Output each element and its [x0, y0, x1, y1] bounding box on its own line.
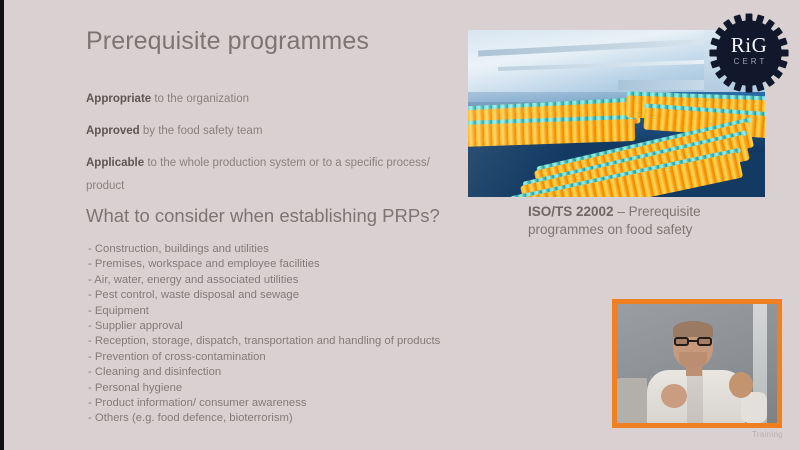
presenter-video-overlay[interactable]: [612, 299, 782, 428]
lead-bullet-keyword: Appropriate: [86, 93, 151, 105]
lead-bullet-item: Appropriate to the organization: [86, 88, 446, 111]
prp-consideration-list: - Construction, buildings and utilities …: [88, 242, 518, 427]
caption-standard-code: ISO/TS 22002: [528, 204, 614, 219]
list-item: - Air, water, energy and associated util…: [88, 273, 518, 288]
lead-bullet-text: by the food safety team: [140, 125, 263, 137]
left-edge-strip: [0, 0, 4, 450]
photo-caption: ISO/TS 22002 – Prerequisite programmes o…: [528, 203, 768, 239]
list-item: - Equipment: [88, 304, 518, 319]
gear-icon: [706, 10, 792, 96]
rig-cert-logo: RiG CERT: [706, 10, 792, 96]
lead-bullet-item: Applicable to the whole production syste…: [86, 152, 446, 198]
list-item: - Prevention of cross-contamination: [88, 350, 518, 365]
lead-bullet-list: Appropriate to the organization Approved…: [86, 88, 446, 198]
list-item: - Others (e.g. food defence, bioterroris…: [88, 411, 518, 426]
page-title: Prerequisite programmes: [86, 27, 369, 56]
watermark: Training: [752, 430, 783, 439]
list-item: - Construction, buildings and utilities: [88, 242, 518, 257]
list-item: - Reception, storage, dispatch, transpor…: [88, 334, 518, 349]
list-item: - Premises, workspace and employee facil…: [88, 257, 518, 272]
list-item: - Supplier approval: [88, 319, 518, 334]
lead-bullet-keyword: Applicable: [86, 157, 144, 169]
list-item: - Pest control, waste disposal and sewag…: [88, 288, 518, 303]
list-item: - Product information/ consumer awarenes…: [88, 396, 518, 411]
section-subheading: What to consider when establishing PRPs?: [86, 205, 440, 227]
list-item: - Personal hygiene: [88, 381, 518, 396]
lead-bullet-text: to the organization: [151, 93, 249, 105]
lead-bullet-keyword: Approved: [86, 125, 140, 137]
slide-canvas: Prerequisite programmes Appropriate to t…: [0, 0, 800, 450]
glasses-icon: [674, 337, 712, 346]
list-item: - Cleaning and disinfection: [88, 365, 518, 380]
lead-bullet-item: Approved by the food safety team: [86, 120, 446, 143]
